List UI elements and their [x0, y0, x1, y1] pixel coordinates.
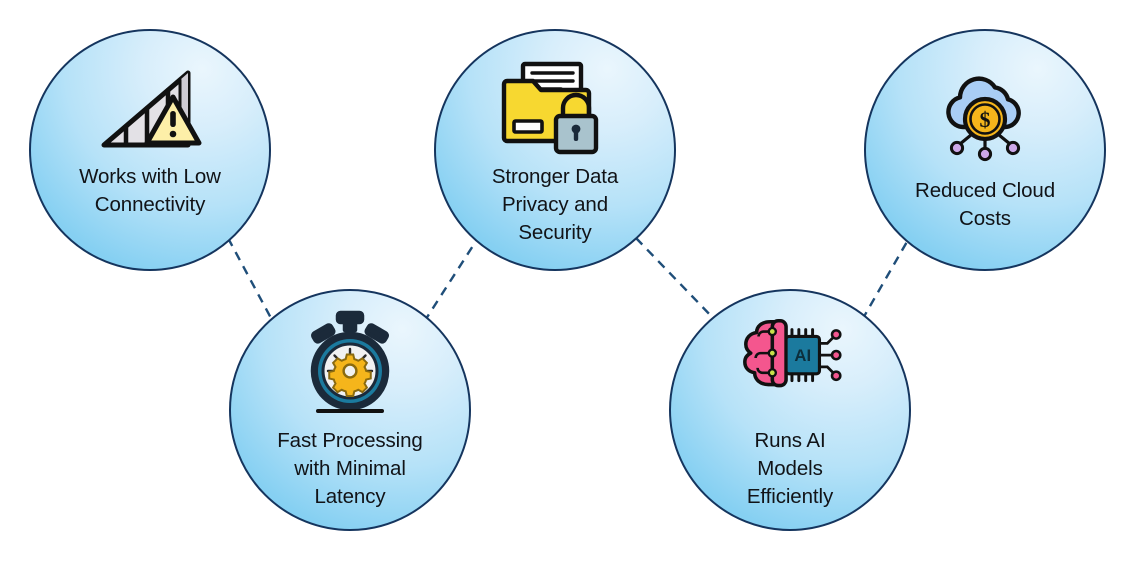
- node-low-connectivity[interactable]: Works with Low Connectivity: [29, 29, 271, 271]
- connector-privacy-to-ai: [636, 238, 715, 320]
- folder-lock-icon: [501, 59, 609, 159]
- node-label: Works with Low Connectivity: [50, 163, 250, 219]
- brain-ai-chip-icon: AI: [735, 315, 845, 407]
- cloud-dollar-coin-icon: $: [933, 65, 1037, 165]
- cloud-dollar-coin-icon-wrap: $: [930, 63, 1040, 167]
- node-runs-ai-models[interactable]: AI Runs AI Models Efficiently: [669, 289, 911, 531]
- node-label: Runs AI Models Efficiently: [690, 427, 890, 511]
- brain-ai-chip-icon-wrap: AI: [735, 313, 845, 409]
- connector-fast-to-privacy: [424, 238, 478, 322]
- node-fast-processing[interactable]: Fast Processing with Minimal Latency: [229, 289, 471, 531]
- diagram-canvas: Works with Low Connectivity: [0, 0, 1146, 576]
- signal-bars-warning-icon: [96, 63, 204, 159]
- chip-label: AI: [794, 346, 811, 365]
- stopwatch-gear-icon: [297, 309, 403, 419]
- folder-lock-icon-wrap: [500, 57, 610, 161]
- node-data-privacy[interactable]: Stronger Data Privacy and Security: [434, 29, 676, 271]
- stopwatch-gear-icon-wrap: [295, 309, 405, 419]
- connector-ai-to-cloud: [862, 240, 908, 320]
- signal-bars-warning-icon-wrap: [95, 61, 205, 161]
- dollar-glyph: $: [980, 107, 991, 132]
- node-label: Fast Processing with Minimal Latency: [250, 427, 450, 511]
- node-label: Reduced Cloud Costs: [885, 177, 1085, 233]
- connector-low-to-fast: [228, 238, 272, 320]
- node-label: Stronger Data Privacy and Security: [455, 163, 655, 247]
- node-reduced-cloud-costs[interactable]: $ Reduced Cloud Costs: [864, 29, 1106, 271]
